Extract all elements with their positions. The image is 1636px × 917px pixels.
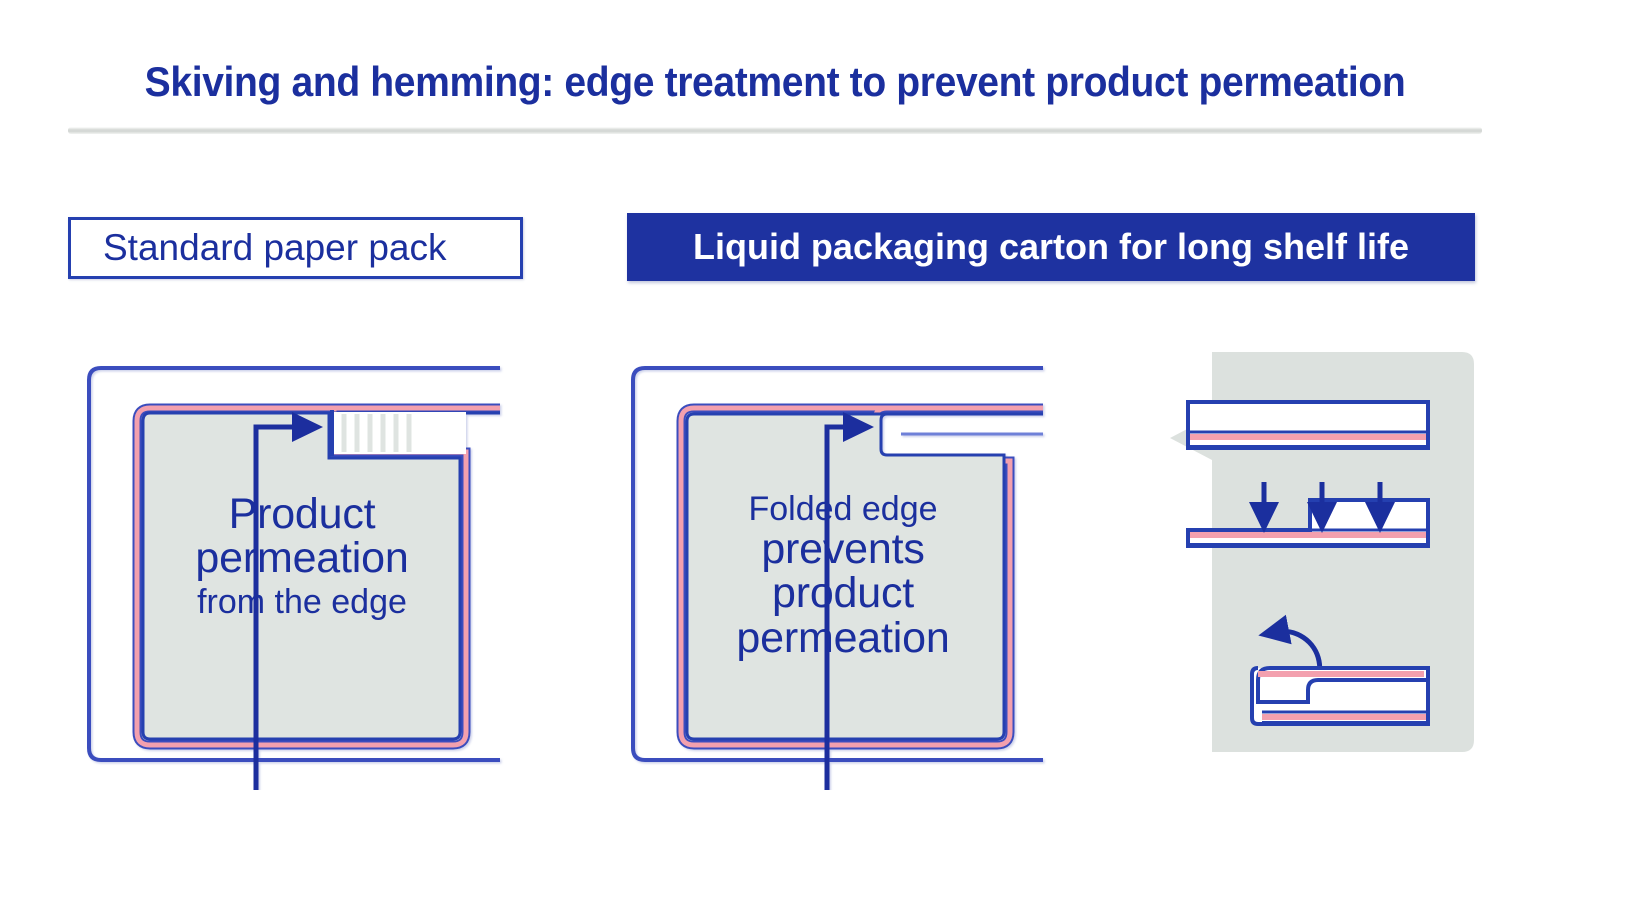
caption-line: prevents: [678, 527, 1008, 571]
column-header-liquid-packaging-carton: Liquid packaging carton for long shelf l…: [627, 213, 1475, 281]
column-header-standard-paper-pack: Standard paper pack: [68, 217, 523, 279]
cut-edge-gap-standard: [334, 412, 466, 454]
caption-line: product: [678, 571, 1008, 615]
caption-line: Folded edge: [678, 492, 1008, 527]
caption-line: from the edge: [137, 585, 467, 620]
caption-standard-paper-pack: Product permeation from the edge: [137, 492, 467, 620]
process-panel: [1170, 352, 1474, 752]
caption-liquid-packaging-carton: Folded edge prevents product permeation: [678, 492, 1008, 660]
page-title: Skiving and hemming: edge treatment to p…: [54, 58, 1496, 106]
caption-line: permeation: [137, 536, 467, 580]
caption-line: permeation: [678, 616, 1008, 660]
title-divider: [68, 127, 1482, 134]
process-step-1-laminate-strip: [1188, 402, 1428, 448]
caption-line: Product: [137, 492, 467, 536]
